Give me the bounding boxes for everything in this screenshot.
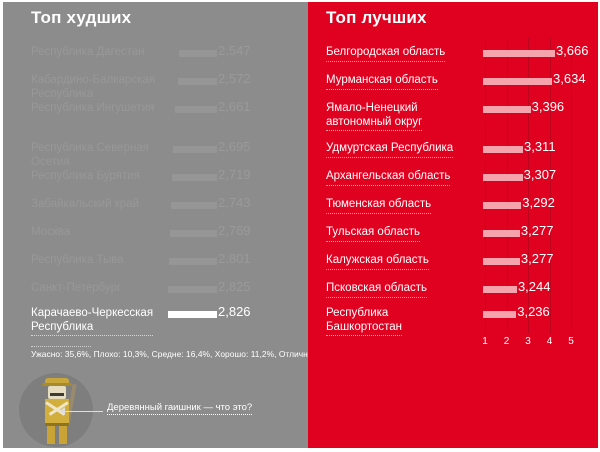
worst-row-label: Республика Северная Осетия <box>31 142 149 169</box>
left-callout-arrow-head-icon <box>59 407 65 415</box>
worst-row-bar <box>175 106 217 113</box>
worst-row-label: Республика Ингушетия <box>31 102 154 116</box>
chart-x-tick: 1 <box>482 336 488 347</box>
worst-row-label: Карачаево-Черкесская Республика <box>31 307 153 336</box>
stats-dotted-rule <box>31 346 91 347</box>
worst-row-value: 2,825 <box>218 279 251 294</box>
chart-x-tick: 5 <box>568 336 574 347</box>
worst-row-bar <box>169 258 217 265</box>
wooden-figurine-callout-link[interactable]: Деревянный гаишник — что это? <box>107 402 252 415</box>
worst-row-value: 2,695 <box>218 139 251 154</box>
worst-stats-line: Ужасно: 35,6%, Плохо: 10,3%, Средне: 16,… <box>31 349 308 359</box>
worst-row-label: Республика Бурятия <box>31 170 140 184</box>
worst-row-bar <box>171 202 217 209</box>
worst-row-bar <box>168 311 217 318</box>
worst-row-label: Республика Тыва <box>31 254 124 268</box>
worst-row-bar <box>168 286 217 293</box>
worst-row-label: Санкт-Петербург <box>31 282 121 296</box>
worst-row-bar <box>173 146 217 153</box>
worst-row-value: 2,572 <box>218 71 251 86</box>
worst-row-value: 2,719 <box>218 167 251 182</box>
worst-row-label: Москва <box>31 226 70 240</box>
panel-worst: Топ худших Республика Дагестан2,547Кабар… <box>3 2 308 448</box>
worst-row-value: 2,801 <box>218 251 251 266</box>
worst-row-bar <box>179 50 217 57</box>
leg-left-icon <box>47 426 55 444</box>
chart-x-tick: 3 <box>525 336 531 347</box>
mouth-icon <box>50 393 64 396</box>
chart-x-tick: 2 <box>504 336 510 347</box>
worst-row-bar <box>178 78 217 85</box>
worst-row-label: Республика Дагестан <box>31 46 145 60</box>
worst-row-value: 2,769 <box>218 223 251 238</box>
worst-row-label: Кабардино-Балкарская Республика <box>31 74 155 101</box>
worst-row-bar <box>170 230 217 237</box>
chart-x-tick: 4 <box>547 336 553 347</box>
infographic-root: Топ худших Республика Дагестан2,547Кабар… <box>0 0 600 452</box>
leg-right-icon <box>59 426 67 444</box>
panel-best: Топ лучших Белгородская область3,666Мурм… <box>308 2 598 448</box>
worst-row-label: Забайкальский край <box>31 198 139 212</box>
worst-row-value: 2,661 <box>218 99 251 114</box>
chart-x-axis: 12345 <box>308 2 598 448</box>
worst-row-bar <box>172 174 217 181</box>
worst-row-value: 2,547 <box>218 43 251 58</box>
worst-row-value: 2,826 <box>218 304 251 319</box>
left-callout-arrow-line <box>63 411 103 412</box>
worst-row-value: 2,743 <box>218 195 251 210</box>
